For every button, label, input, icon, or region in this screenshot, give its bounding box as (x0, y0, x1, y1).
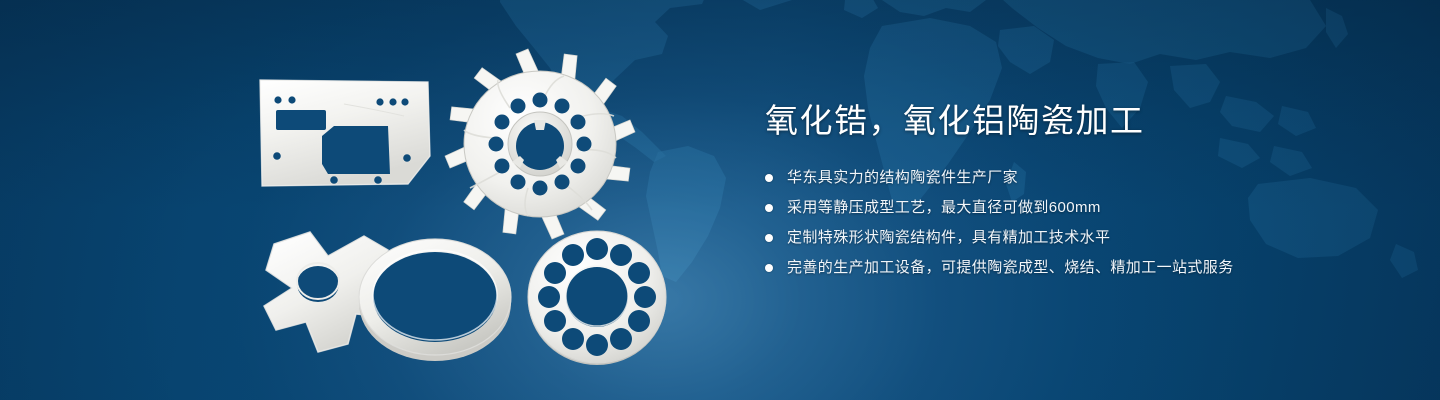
product-photo-group (0, 0, 760, 400)
bullet-dot-icon (765, 204, 773, 212)
list-item: 完善的生产加工设备，可提供陶瓷成型、烧结、精加工一站式服务 (765, 256, 1385, 279)
ceramic-ring-part (345, 225, 525, 370)
banner-text-block: 氧化锆，氧化铝陶瓷加工 华东具实力的结构陶瓷件生产厂家 采用等静压成型工艺，最大… (765, 100, 1385, 286)
feature-list: 华东具实力的结构陶瓷件生产厂家 采用等静压成型工艺，最大直径可做到600mm 定… (765, 166, 1385, 279)
promo-banner: 氧化锆，氧化铝陶瓷加工 华东具实力的结构陶瓷件生产厂家 采用等静压成型工艺，最大… (0, 0, 1440, 400)
list-item: 华东具实力的结构陶瓷件生产厂家 (765, 166, 1385, 189)
list-item: 定制特殊形状陶瓷结构件，具有精加工技术水平 (765, 226, 1385, 249)
bullet-dot-icon (765, 234, 773, 242)
feature-text: 华东具实力的结构陶瓷件生产厂家 (787, 168, 1018, 188)
feature-text: 完善的生产加工设备，可提供陶瓷成型、烧结、精加工一站式服务 (787, 258, 1234, 278)
feature-text: 定制特殊形状陶瓷结构件，具有精加工技术水平 (787, 228, 1110, 248)
list-item: 采用等静压成型工艺，最大直径可做到600mm (765, 196, 1385, 219)
feature-text: 采用等静压成型工艺，最大直径可做到600mm (787, 198, 1101, 218)
ceramic-plate-part (248, 74, 438, 194)
banner-headline: 氧化锆，氧化铝陶瓷加工 (765, 100, 1385, 142)
bullet-dot-icon (765, 174, 773, 182)
bullet-dot-icon (765, 264, 773, 272)
ceramic-impeller-part (443, 48, 638, 243)
ceramic-disc-part (515, 225, 680, 370)
